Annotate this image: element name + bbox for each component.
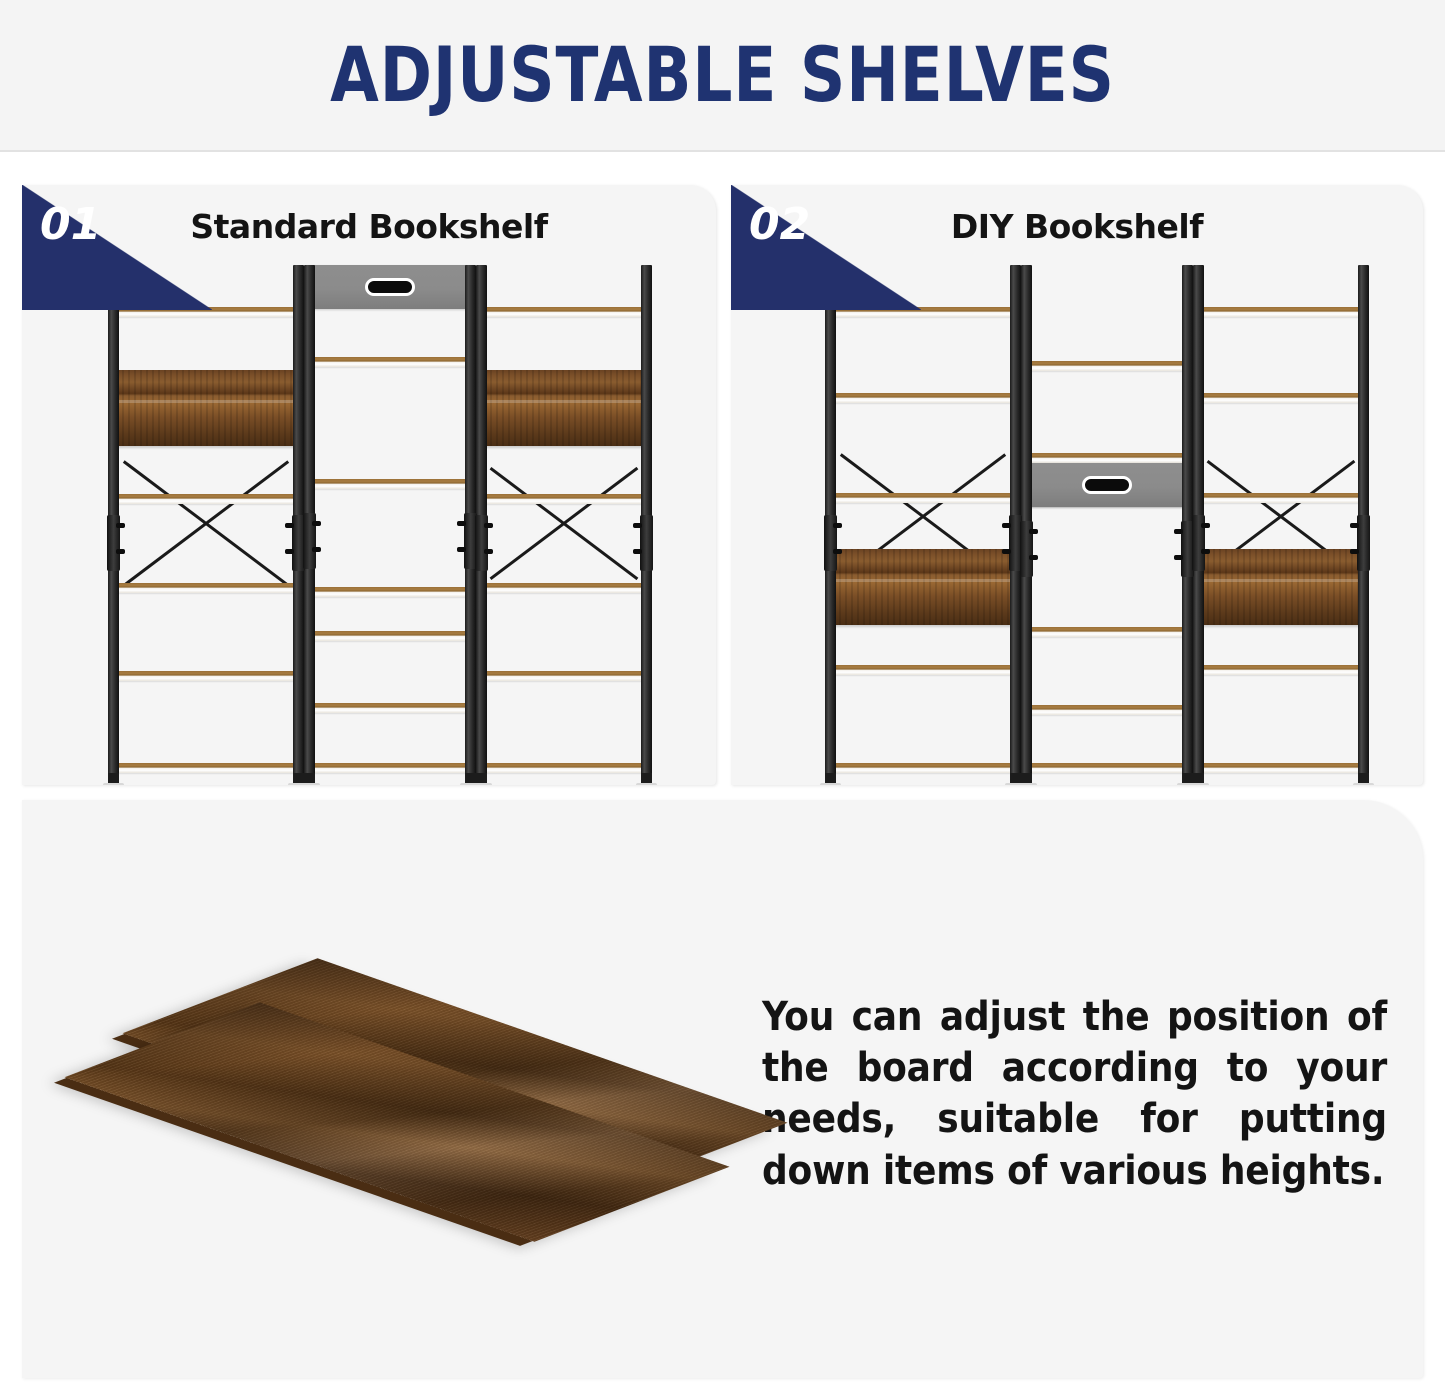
wood-shelf <box>1195 307 1367 317</box>
storage-drawer-bin[interactable] <box>306 265 474 309</box>
shelf-illustration-diy <box>731 230 1423 785</box>
x-cross-brace <box>114 448 298 596</box>
bookshelf-unit-left <box>108 265 304 773</box>
wood-shelf <box>1023 361 1191 371</box>
wood-shelf <box>1023 453 1191 463</box>
frame-post-left <box>1021 265 1032 773</box>
panel-board-detail: You can adjust the position of the board… <box>22 800 1423 1378</box>
header-band: ADJUSTABLE SHELVES <box>0 0 1445 152</box>
bookshelf-unit-middle <box>304 265 476 773</box>
wood-shelf <box>478 763 650 773</box>
wood-shelf <box>306 357 474 367</box>
panel-diy-bookshelf: 02 DIY Bookshelf <box>731 185 1423 785</box>
wood-shelf <box>478 671 650 681</box>
wood-shelf <box>110 583 302 593</box>
wood-shelf <box>1195 665 1367 675</box>
wood-shelf <box>827 763 1019 773</box>
panel-standard-bookshelf: 01 Standard Bookshelf <box>22 185 716 785</box>
wood-shelf <box>827 665 1019 675</box>
shelf-adjuster-bracket <box>640 515 653 571</box>
bookshelf-unit-left <box>825 265 1021 773</box>
wood-shelf <box>306 631 474 641</box>
adjustable-wood-board <box>827 549 1019 625</box>
leveling-foot-left <box>476 773 487 784</box>
badge-number-02: 02 <box>749 199 810 250</box>
wood-shelf <box>110 671 302 681</box>
wood-shelf <box>827 393 1019 403</box>
adjustable-wood-board <box>478 370 650 446</box>
storage-drawer-bin[interactable] <box>1023 463 1191 507</box>
leveling-foot-left <box>304 773 315 784</box>
bookshelf-unit-middle <box>1021 265 1193 773</box>
wood-shelf <box>110 763 302 773</box>
bookshelf-unit-right <box>476 265 652 773</box>
wood-shelf <box>478 307 650 317</box>
leveling-foot-right <box>1358 773 1369 784</box>
corner-badge-02: 02 <box>731 185 921 310</box>
wood-shelf <box>827 493 1019 503</box>
wood-shelf <box>1023 627 1191 637</box>
wood-shelf <box>478 494 650 504</box>
x-cross-brace <box>482 448 646 596</box>
drawer-handle-icon[interactable] <box>1082 476 1132 494</box>
adjustable-wood-board <box>110 370 302 446</box>
wood-shelf <box>478 583 650 593</box>
leveling-foot-right <box>641 773 652 784</box>
shelf-illustration-standard <box>22 230 716 785</box>
shelf-adjuster-bracket <box>824 515 837 571</box>
shelf-adjuster-bracket <box>475 515 488 571</box>
shelf-adjuster-bracket <box>1020 521 1033 577</box>
board-description-text: You can adjust the position of the board… <box>762 992 1387 1197</box>
wood-shelf <box>1195 763 1367 773</box>
wood-shelf <box>306 703 474 713</box>
leveling-foot-left <box>108 773 119 784</box>
bookshelf-unit-right <box>1193 265 1369 773</box>
wood-shelf <box>1195 393 1367 403</box>
shelf-adjuster-bracket <box>303 513 316 569</box>
shelf-adjuster-bracket <box>1192 515 1205 571</box>
wood-shelf <box>306 587 474 597</box>
wood-shelf <box>306 763 474 773</box>
wood-shelf <box>1023 705 1191 715</box>
corner-badge-01: 01 <box>22 185 212 310</box>
shelf-adjuster-bracket <box>107 515 120 571</box>
wood-shelf <box>306 479 474 489</box>
page-title: ADJUSTABLE SHELVES <box>58 0 1387 150</box>
badge-number-01: 01 <box>40 199 101 250</box>
wood-shelf <box>1023 763 1191 773</box>
wood-shelf <box>1195 493 1367 503</box>
wood-shelf <box>110 494 302 504</box>
stacked-boards-photo <box>42 925 702 1255</box>
drawer-handle-icon[interactable] <box>365 278 415 296</box>
adjustable-wood-board <box>1195 549 1367 625</box>
leveling-foot-left <box>1193 773 1204 784</box>
shelf-adjuster-bracket <box>1357 515 1370 571</box>
leveling-foot-left <box>825 773 836 784</box>
leveling-foot-left <box>1021 773 1032 784</box>
